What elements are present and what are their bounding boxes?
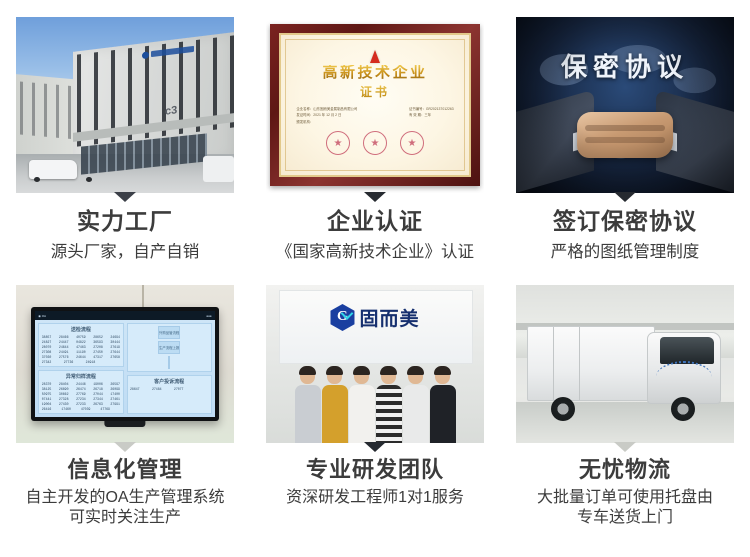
building-sign-label: c3 xyxy=(165,104,177,118)
truck-cargo-box xyxy=(527,326,655,401)
cell-title: 无忧物流 xyxy=(500,457,750,483)
certificate-inner: 高新技术企业 证书 企业名称：山东固而美金属制品有限公司 发证时间：2021 年… xyxy=(279,33,470,177)
person xyxy=(322,368,348,443)
handshake-image: 保密协议 xyxy=(516,17,734,193)
oa-dashboard-tv-image: ◉ OA ●●● 送检流程 3885728466407592865224694 … xyxy=(16,285,234,443)
photo-enterprise-certification: 高新技术企业 证书 企业名称：山东固而美金属制品有限公司 发证时间：2021 年… xyxy=(266,17,484,193)
panel-title: 送检流程 xyxy=(71,326,91,333)
panel-row: 286472748427077 xyxy=(130,387,208,392)
cell-title: 专业研发团队 xyxy=(250,457,500,483)
vignette-overlay xyxy=(516,17,734,193)
person xyxy=(349,368,375,443)
dashboard-body: 送检流程 3885728466407592865224694 248272444… xyxy=(35,320,214,417)
caption-information-management: 信息化管理 自主开发的OA生产管理系统 可实时关注生产 xyxy=(0,457,250,529)
certificate-fields-left: 企业名称：山东固而美金属制品有限公司 发证时间：2021 年 12 月 2 日 … xyxy=(296,106,357,125)
parked-truck xyxy=(203,156,234,182)
panel-block: 外购品管流程 xyxy=(158,326,180,339)
truck-window xyxy=(660,337,715,364)
parked-van xyxy=(29,160,77,179)
person xyxy=(376,368,402,443)
cell-subtitle: 《国家高新技术企业》认证 xyxy=(250,242,500,263)
panel-row: 26416174604703947769 xyxy=(42,407,120,412)
dashboard-panel: 异常归样流程 2837028404244461900626597 3812526… xyxy=(38,370,123,414)
truck-wheel xyxy=(551,397,575,421)
panel-title: 异常归样流程 xyxy=(66,373,96,380)
truck-wheel xyxy=(671,397,695,421)
panel-rows: 3885728466407592865224694 24827244470482… xyxy=(42,335,120,365)
pointer-triangle-icon xyxy=(614,192,636,202)
panel-rows: 286472748427077 xyxy=(130,387,208,392)
panel-rows: 2837028404244461900626597 38125268902647… xyxy=(42,382,120,412)
certificate-image: 高新技术企业 证书 企业名称：山东固而美金属制品有限公司 发证时间：2021 年… xyxy=(266,17,484,193)
feature-cell-worry-free-logistics[interactable]: 无忧物流 大批量订单可使用托盘由 专车送货上门 xyxy=(500,275,750,557)
dashboard-panel: 外购品管流程 生产流程上报 xyxy=(127,323,212,372)
cell-title: 信息化管理 xyxy=(0,457,250,483)
feature-cell-information-management[interactable]: ◉ OA ●●● 送检流程 3885728466407592865224694 … xyxy=(0,275,250,557)
cert-field: 证书编号：GR202137012263 xyxy=(409,106,454,112)
panel-block: 生产流程上报 xyxy=(158,341,180,354)
caption-enterprise-certification: 企业认证 《国家高新技术企业》认证 xyxy=(250,208,500,263)
cert-field: 企业名称：山东固而美金属制品有限公司 xyxy=(296,106,357,112)
person xyxy=(403,368,429,443)
factory-building-image: c3 xyxy=(16,17,234,193)
dashboard-topbar-right: ●●● xyxy=(206,314,211,318)
certificate-frame: 高新技术企业 证书 企业名称：山东固而美金属制品有限公司 发证时间：2021 年… xyxy=(270,24,479,186)
tv-bezel: ◉ OA ●●● 送检流程 3885728466407592865224694 … xyxy=(31,307,218,421)
dashboard-topbar-left: ◉ OA xyxy=(38,314,46,318)
feature-grid: c3 实力工厂 源头厂家，自产自销 高新技术企业 证书 xyxy=(0,0,750,557)
feature-cell-enterprise-certification[interactable]: 高新技术企业 证书 企业名称：山东固而美金属制品有限公司 发证时间：2021 年… xyxy=(250,0,500,275)
photo-strong-factory: c3 xyxy=(16,17,234,193)
photo-worry-free-logistics xyxy=(516,285,734,443)
feature-cell-rd-team[interactable]: G 固而美 xyxy=(250,275,500,557)
cell-subtitle: 严格的图纸管理制度 xyxy=(500,242,750,263)
cell-title: 实力工厂 xyxy=(0,208,250,235)
cell-subtitle: 源头厂家，自产自销 xyxy=(0,242,250,263)
cell-title: 签订保密协议 xyxy=(500,208,750,235)
cert-field: 发证时间：2021 年 12 月 2 日 xyxy=(296,112,357,118)
photo-rd-team: G 固而美 xyxy=(266,285,484,443)
person xyxy=(430,368,456,443)
caption-sign-nda: 签订保密协议 严格的图纸管理制度 xyxy=(500,208,750,263)
certificate-meta: 企业名称：山东固而美金属制品有限公司 发证时间：2021 年 12 月 2 日 … xyxy=(296,106,453,125)
cell-subtitle: 自主开发的OA生产管理系统 可实时关注生产 xyxy=(0,488,250,529)
caption-worry-free-logistics: 无忧物流 大批量订单可使用托盘由 专车送货上门 xyxy=(500,457,750,529)
brand-name: 固而美 xyxy=(359,304,419,331)
photo-information-management: ◉ OA ●●● 送检流程 3885728466407592865224694 … xyxy=(16,285,234,443)
pointer-triangle-icon xyxy=(114,442,136,452)
certificate-subheading: 证书 xyxy=(360,83,390,100)
feature-cell-sign-nda[interactable]: 保密协议 签订保密协议 严格的图纸管理制度 xyxy=(500,0,750,275)
cell-subtitle: 资深研发工程师1对1服务 xyxy=(250,488,500,508)
photo-sign-nda: 保密协议 xyxy=(516,17,734,193)
facade-fins-secondary xyxy=(20,81,77,139)
certificate-heading: 高新技术企业 xyxy=(322,65,427,82)
person xyxy=(295,368,321,443)
tv-screen: ◉ OA ●●● 送检流程 3885728466407592865224694 … xyxy=(35,311,214,417)
dashboard-left-column: 送检流程 3885728466407592865224694 248272444… xyxy=(38,323,123,414)
rd-team-image: G 固而美 xyxy=(266,285,484,443)
pointer-triangle-icon xyxy=(364,442,386,452)
team-front-row xyxy=(266,361,484,443)
panel-block xyxy=(168,356,170,369)
flame-emblem-icon xyxy=(370,50,380,63)
hexagon-g-logo-icon: G xyxy=(330,304,354,331)
cell-title: 企业认证 xyxy=(250,208,500,235)
cell-subtitle: 大批量订单可使用托盘由 专车送货上门 xyxy=(500,488,750,529)
caption-rd-team: 专业研发团队 资深研发工程师1对1服务 xyxy=(250,457,500,508)
dashboard-right-column: 外购品管流程 生产流程上报 客户投诉流程 286472748427077 xyxy=(127,323,212,414)
cert-field: 颁发机构： xyxy=(296,119,357,125)
feature-cell-strong-factory[interactable]: c3 实力工厂 源头厂家，自产自销 xyxy=(0,0,250,275)
brand-logo: G 固而美 xyxy=(330,304,419,331)
panel-row: 273422773624918 xyxy=(42,360,120,365)
dashboard-panel: 客户投诉流程 286472748427077 xyxy=(127,375,212,414)
dashboard-topbar: ◉ OA ●●● xyxy=(35,311,214,320)
seal-stamp-icon: ★ xyxy=(400,131,424,155)
seal-stamp-icon: ★ xyxy=(326,131,350,155)
pointer-triangle-icon xyxy=(614,442,636,452)
pointer-triangle-icon xyxy=(114,192,136,202)
ground-layer xyxy=(516,402,734,443)
cert-field: 有 效 期：三年 xyxy=(409,112,454,118)
certificate-fields-right: 证书编号：GR202137012263 有 效 期：三年 xyxy=(409,106,454,125)
panel-title: 客户投诉流程 xyxy=(154,378,184,385)
certificate-seals: ★ ★ ★ xyxy=(281,131,468,155)
delivery-truck-image xyxy=(516,285,734,443)
pointer-triangle-icon xyxy=(364,192,386,202)
seal-stamp-icon: ★ xyxy=(363,131,387,155)
dashboard-panel: 送检流程 3885728466407592865224694 248272444… xyxy=(38,323,123,367)
caption-strong-factory: 实力工厂 源头厂家，自产自销 xyxy=(0,208,250,263)
